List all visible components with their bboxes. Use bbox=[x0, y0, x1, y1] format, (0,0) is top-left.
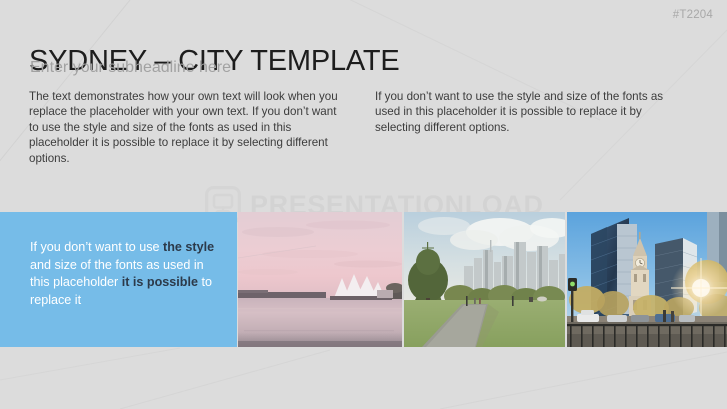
slide-canvas: #T2204 SYDNEY – CITY TEMPLATE Enter your… bbox=[0, 0, 727, 409]
photo-royal-botanic-park-skyline[interactable] bbox=[404, 212, 565, 347]
body-text-right[interactable]: If you don’t want to use the style and s… bbox=[375, 89, 690, 135]
media-band: If you don’t want to use the style and s… bbox=[0, 212, 727, 347]
photo-sydney-harbour-opera-house[interactable] bbox=[238, 212, 402, 347]
template-id-label: #T2204 bbox=[673, 9, 713, 21]
subheadline-placeholder[interactable]: Enter your subheadline here bbox=[30, 58, 231, 78]
blue-text-segment-4: it is possible bbox=[122, 275, 198, 289]
blue-text-segment-2: the style bbox=[163, 240, 214, 254]
blue-text-panel: If you don’t want to use the style and s… bbox=[0, 212, 237, 347]
photo-city-street-clock-tower[interactable] bbox=[567, 212, 727, 347]
blue-text-segment-1: If you don’t want to use bbox=[30, 240, 163, 254]
body-text-left[interactable]: The text demonstrates how your own text … bbox=[29, 89, 349, 166]
blue-panel-text[interactable]: If you don’t want to use the style and s… bbox=[30, 239, 226, 309]
